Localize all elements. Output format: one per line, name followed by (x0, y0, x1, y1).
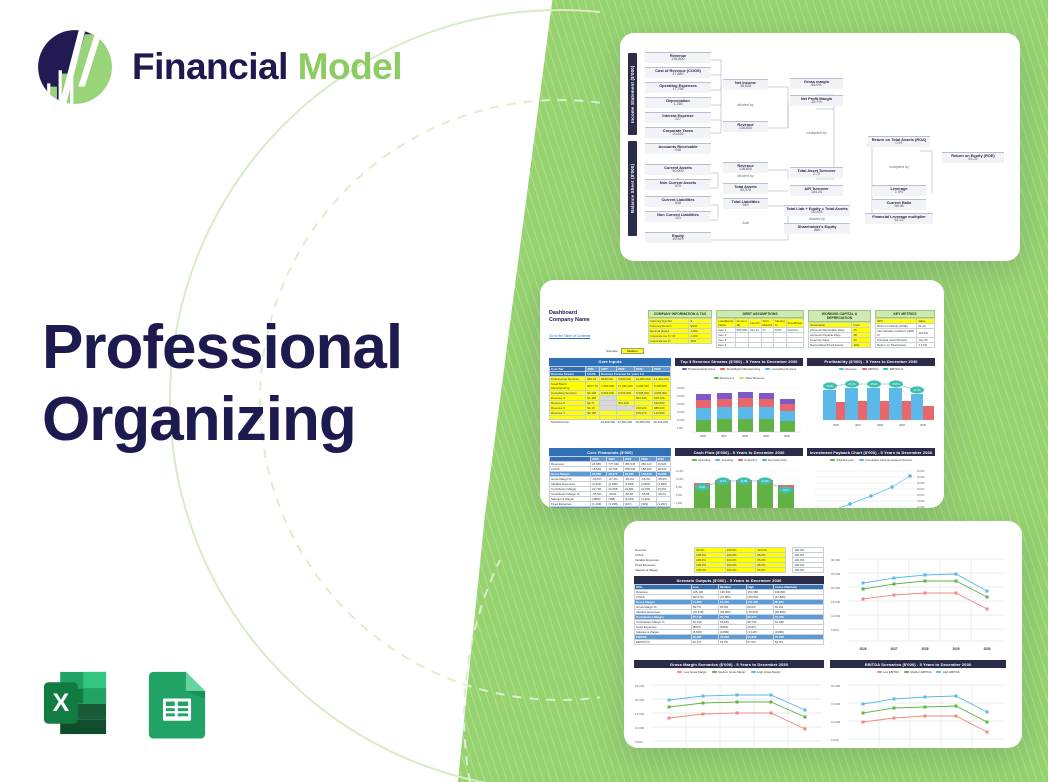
cf-r9-v1: 18,291 (607, 507, 623, 509)
svg-text:10,000: 10,000 (677, 419, 685, 422)
svg-text:2029: 2029 (899, 423, 905, 427)
svg-text:10,000: 10,000 (917, 506, 925, 509)
debt-r3c1[interactable] (735, 343, 748, 348)
legend-low-gm: Low Gross Margin (677, 670, 706, 674)
sa-r4-low[interactable]: 105.0% (695, 568, 726, 573)
ci-row1-v1[interactable]: 77,052,000 (617, 381, 635, 390)
cf-r9-v2: 62,291 (623, 507, 639, 509)
core-financials-table: 2026 2027 2028 2029 2030 Revenues26,5857… (549, 456, 671, 508)
node-current-liabilities: Current Liabilities848 (645, 196, 711, 207)
wc-r3v[interactable]: 10% (852, 343, 871, 348)
node-interest-expense: Interest Expense127 (645, 112, 711, 123)
svg-text:2026: 2026 (833, 423, 839, 427)
node-leverage: Leverage1.9% (872, 185, 926, 196)
debt-h2: Launch (749, 319, 761, 328)
operator-divided-by-2: divided by (723, 174, 768, 178)
km-r3l: Return on Total Assets (876, 343, 917, 348)
table-row: EBITDA %40.1%52.0%57.0%52.0% (635, 640, 824, 645)
debt-r3c4[interactable] (774, 343, 787, 348)
svg-text:-: - (831, 640, 832, 644)
profitability-plot: 46.2% 47.1% 45.2% 45.7% 41.7% 2026202720… (807, 372, 935, 430)
ci-value-4[interactable]: 30% (689, 339, 712, 344)
node-return-on-total-assets: Return on Total Assets (ROA)0.97 (868, 136, 930, 147)
node-net-profit-margin: Net Profit Margin35.7% (790, 95, 843, 106)
core-inputs-title: Core Inputs (549, 358, 671, 366)
brand-word-financial: Financial (132, 46, 298, 87)
sa-r4-high[interactable]: 95.0% (756, 568, 786, 573)
svg-text:2026: 2026 (700, 434, 706, 438)
dashboard-body: Dashboard Company Name Go to the Table o… (540, 280, 944, 508)
cf-bubble-3: 10,309 (761, 481, 769, 483)
node-depreciation: Depreciation1,265 (645, 97, 711, 108)
svg-text:20,000: 20,000 (635, 698, 645, 702)
legend-investing: Investing (715, 458, 733, 462)
operator-divided-by-3: divided by (784, 217, 850, 221)
node-current-assets: Current Assets50,009 (645, 164, 711, 175)
svg-text:5,000: 5,000 (831, 628, 839, 632)
node-operating-expenses: Operating Expenses17,758 (645, 82, 711, 93)
svg-text:15,000: 15,000 (677, 411, 685, 414)
table-row: EBITDA60,22818,29162,29163,79161,7% (550, 507, 671, 509)
bubble-4: 41.7% (914, 389, 922, 392)
svg-text:20,000: 20,000 (677, 403, 685, 406)
node-cogs: Cost of Revenue (COGS)47,880 (645, 67, 711, 78)
legend-low-ebitda: Low EBITDA (877, 670, 900, 674)
debt-h1: Amount ($) (735, 319, 748, 328)
financial-dashboard-card[interactable]: Dashboard Company Name Go to the Table o… (540, 280, 944, 508)
ci-row1-v2[interactable]: 9,298,000 (635, 381, 653, 390)
legend-item-revenue: Revenue (839, 367, 857, 371)
legend-cumulative-cash: Cumulative Cash Generated (Source) (859, 458, 912, 462)
svg-text:6,000: 6,000 (676, 494, 683, 497)
svg-text:8,000: 8,000 (676, 486, 683, 489)
debt-r3c5[interactable] (786, 343, 803, 348)
revenue-streams-plot: 30,00025,00020,000 15,00010,0005,000 (675, 381, 803, 439)
svg-text:25,000: 25,000 (635, 684, 645, 688)
ci-total-3: 28,120,000 (653, 419, 671, 424)
svg-text:2030: 2030 (920, 423, 926, 427)
profitability-combo-chart: Profitability ($'000) - 5 Years to Decem… (807, 358, 935, 445)
payback-chart-title: Investment Payback Chart ($'000) - 5 Yea… (807, 448, 935, 456)
operator-multiplied-by-1: multiplied by (790, 131, 843, 135)
node-non-current-liabilities: Non Current Liabilities101 (645, 211, 711, 222)
bubble-0: 46.2% (827, 385, 835, 388)
svg-text:2029: 2029 (763, 434, 769, 438)
svg-text:15,000: 15,000 (917, 500, 925, 503)
bubble-1: 47.1% (849, 383, 857, 386)
cf-r9-v4: 61,7% (656, 507, 671, 509)
key-metrics-panel-title: KEY METRICS (875, 310, 935, 318)
cash-flow-plot: 12,00010,0008,000 6,0004,0002,000 -(2,00… (675, 463, 803, 509)
ebitda-plot: 20,00015,00010,000 5,000- (830, 675, 1006, 749)
legend-netcash: Net Cash Flow (762, 458, 787, 462)
ci-total-label: Total Revenue (550, 419, 586, 424)
node-total-assets: Total Assets50,578 (723, 183, 768, 194)
cf-r9-v0: 60,228 (591, 507, 607, 509)
core-financials-block: Core Financials ($'000) 2026 2027 2028 2… (549, 448, 671, 508)
legend-high-ebitda: High EBITDA (936, 670, 959, 674)
legend-item-1: Small Batch Manufacturing (720, 367, 760, 371)
ci-total-2: 28,480,000 (635, 419, 653, 424)
svg-text:20,000: 20,000 (831, 684, 841, 688)
google-sheets-icon[interactable] (140, 666, 214, 740)
legend-operating: Operating (692, 458, 711, 462)
debt-assumptions-panel: DEBT ASSUMPTIONS Loan/Equity Name Amount… (716, 310, 804, 348)
financial-model-dupont-flow-card[interactable]: Income Statement ($'000) Balance Sheet (… (620, 33, 1020, 261)
ci-row1-v0[interactable]: 7,352,000 (600, 381, 617, 390)
scenario-left-column: Revenue90.0%100.0%110.0%100.0% COGS105.0… (634, 547, 824, 658)
legend-item-0: Professional Services (682, 367, 715, 371)
ci-total-0: 26,200,000 (600, 419, 617, 424)
working-capital-table: AssumptionInput Accounts Receivable Days… (808, 322, 871, 348)
scenario-summary-plot: 30,00025,00020,000 15,00010,0005,000- (830, 547, 1006, 653)
company-info-table: Currency Symbol$ Currency Denom$'000 Dec… (648, 318, 713, 344)
sa-r4-actual: 100.0% (793, 568, 824, 573)
cash-flow-chart: Cash Flow ($'000) - 5 Years to December … (675, 448, 803, 508)
debt-h4: Interest % (774, 319, 787, 328)
dashboard-header: Dashboard Company Name Go to the Table o… (549, 310, 644, 354)
slide-canvas: Financial Model Professional Organizing … (0, 0, 1048, 782)
company-info-panel-title: COMPANY INFORMATION & TAX (648, 310, 713, 318)
operator-divided-by-1: divided by (723, 103, 768, 107)
debt-panel-title: DEBT ASSUMPTIONS (716, 310, 804, 318)
debt-r3c0[interactable]: Item 4 (717, 343, 735, 348)
debt-r3c2[interactable] (749, 343, 761, 348)
ci-total-1: 27,850,000 (617, 419, 635, 424)
so-r10c4: 52.0% (773, 640, 823, 645)
scenario-outputs-table: KPIs Low Medium High Active (Medium) Rev… (634, 584, 824, 645)
svg-text:12,000: 12,000 (676, 470, 684, 473)
node-non-current-assets: Non Current Assets570 (645, 179, 711, 190)
cf-bubble-0: 8,460 (699, 487, 705, 489)
node-net-income: Net Income48,828 (723, 79, 768, 90)
node-total-liab-equity: Total Liab + Equity = Total Assets50,578 (784, 205, 850, 216)
legend-payback-year: Payback year (830, 458, 853, 462)
ebitda-scenarios-chart: EBITDA Scenarios ($'000) - 5 Years to De… (830, 660, 1006, 748)
core-inputs-table: Cost Tier 2026 2027 2028 2029 2030 Reven… (549, 366, 671, 424)
page-title: Professional Organizing (42, 312, 402, 456)
scenario-outputs-title: Scenario Outputs ($'000) - 5 Years to De… (634, 576, 824, 584)
gross-margin-scenarios-chart: Gross Margin Scenarios ($'000) - 5 Years… (634, 660, 824, 748)
section-label-balance-sheet: Balance Sheet ($'000) (628, 141, 637, 236)
debt-r0c1[interactable]: 500,000 (735, 328, 748, 333)
wc-panel-title: WORKING CAPITAL & DEPRECIATION (808, 310, 871, 322)
ci-row1-unit[interactable]: $127.70 (586, 381, 600, 390)
debt-h0: Loan/Equity Name (717, 319, 735, 328)
svg-text:5,000: 5,000 (677, 427, 684, 430)
supported-formats: X (38, 666, 214, 740)
legend-item-ebitda: EBITDA (862, 367, 879, 371)
ss-x2: 2028 (921, 647, 928, 651)
cf-bubble-2: 10,281 (740, 481, 748, 483)
svg-text:30,000: 30,000 (917, 482, 925, 485)
svg-text:25,000: 25,000 (917, 488, 925, 491)
dashboard-title: Dashboard (549, 310, 577, 316)
operator-add: Add (723, 221, 768, 225)
bubble-3: 45.7% (893, 383, 901, 386)
company-information-panel: COMPANY INFORMATION & TAX Currency Symbo… (648, 310, 713, 344)
svg-text:2028: 2028 (742, 434, 748, 438)
cf-r9-label: EBITDA (550, 507, 591, 509)
ss-x4: 2030 (983, 647, 990, 651)
revenue-streams-chart-title: Top 3 Revenue Streams ($'000) - 5 Years … (675, 358, 803, 366)
debt-assumptions-table: Loan/Equity Name Amount ($) Launch Term,… (716, 318, 804, 348)
legend-item-2: Consulting Services (765, 367, 796, 371)
node-revenue-asset-turnover: Revenue136,800 (723, 162, 768, 173)
ci-row0-v2[interactable]: 10,000,000 (635, 376, 653, 381)
svg-text:5,000: 5,000 (831, 738, 839, 742)
table-row: Salaries & Wages105.0%100.0%95.0%100.0% (634, 568, 824, 573)
core-inputs-block: Core Inputs Cost Tier 2026 2027 2028 202… (549, 358, 671, 445)
svg-text:2027: 2027 (721, 434, 727, 438)
node-total-liabilities: Total Liabilities949 (723, 198, 768, 209)
so-r10c3: 57.0% (746, 640, 773, 645)
svg-text:25,000: 25,000 (831, 572, 841, 576)
svg-text:15,000: 15,000 (831, 702, 841, 706)
brand-wordmark: Financial Model (132, 46, 402, 88)
svg-text:2027: 2027 (855, 423, 861, 427)
ss-x1: 2027 (890, 647, 897, 651)
gross-margin-plot: 25,00020,00015,000 10,0005,000- (634, 675, 824, 749)
node-shareholders-equity: Shareholder's Equity869 (784, 223, 850, 234)
key-metrics-table: NPVValue Return on Equity (ROE)61.22 Int… (875, 318, 935, 348)
node-ar-turnover: A/R Turnover144.24 (790, 185, 843, 196)
scenario-select[interactable]: Medium (621, 348, 644, 354)
scenario-analysis-card[interactable]: Revenue90.0%100.0%110.0%100.0% COGS105.0… (624, 521, 1022, 748)
svg-text:20,000: 20,000 (831, 586, 841, 590)
core-financials-title: Core Financials ($'000) (549, 448, 671, 456)
ebitda-chart-title: EBITDA Scenarios ($'000) - 5 Years to De… (830, 660, 1006, 668)
ss-x0: 2026 (859, 647, 866, 651)
scenario-label: Scenario (606, 349, 618, 353)
svg-text:5,000: 5,000 (635, 740, 643, 744)
node-gross-margin: Gross margin65.0% (790, 78, 843, 89)
revenue-streams-legend: Professional Services Small Batch Manufa… (675, 366, 803, 382)
revenue-streams-stacked-bar: Top 3 Revenue Streams ($'000) - 5 Years … (675, 358, 803, 445)
svg-text:35,000: 35,000 (917, 476, 925, 479)
so-r10c2: 52.0% (718, 640, 746, 645)
node-return-on-equity: Return on Equity (ROE)61.22 (942, 152, 1004, 163)
legend-med-gm: Medium Gross Margin (712, 670, 746, 674)
km-r1l: Internal Rate of Return (IRR) % (876, 329, 917, 338)
node-equity: Equity49,629 (645, 232, 711, 243)
debt-h3: Term, Months (761, 319, 773, 328)
node-financial-leverage-multiplier: Financial Leverage multiplier63.22 (865, 213, 933, 224)
km-r1v: 144.6% (917, 329, 935, 338)
section-label-income-statement: Income Statement ($'000) (628, 53, 637, 135)
cash-flow-chart-title: Cash Flow ($'000) - 5 Years to December … (675, 448, 803, 456)
debt-r3c3[interactable] (761, 343, 773, 348)
svg-text:2030: 2030 (784, 434, 790, 438)
scenario-body: Revenue90.0%100.0%110.0%100.0% COGS105.0… (624, 521, 1022, 748)
ci-row0-v3[interactable]: 14,000,000 (653, 376, 671, 381)
payback-plot: 40,00035,00030,000 25,00020,00015,000 10… (807, 463, 935, 509)
svg-text:10,000: 10,000 (676, 478, 684, 481)
dupont-flow-diagram: Income Statement ($'000) Balance Sheet (… (620, 33, 1020, 261)
brand-word-model: Model (298, 46, 402, 87)
svg-text:2028: 2028 (877, 423, 883, 427)
legend-item-4: Other Revenue (739, 376, 764, 380)
operator-multiplied-by-2: multiplied by (868, 165, 930, 169)
ci-row1-v3[interactable]: 5,238,000 (653, 381, 671, 390)
ci-label-4: Corporate tax % (648, 339, 689, 344)
svg-text:X: X (53, 689, 70, 717)
legend-financing: Financing (738, 458, 757, 462)
profitability-chart-title: Profitability ($'000) - 5 Years to Decem… (807, 358, 935, 366)
node-corporate-taxes: Corporate Taxes20,626 (645, 127, 711, 138)
svg-text:20,000: 20,000 (917, 494, 925, 497)
svg-text:30,000: 30,000 (677, 387, 685, 390)
brand-logo[interactable]: Financial Model (34, 26, 402, 108)
node-current-ratio: Current Ratio58.98 (872, 199, 926, 210)
scenario-assumptions-table: Revenue90.0%100.0%110.0%100.0% COGS105.0… (634, 547, 824, 573)
cf-bubble-1: 10,711 (720, 481, 728, 483)
so-r10c1: 40.1% (691, 640, 718, 645)
node-total-asset-turnover: Total Asset Turnover2.70 (790, 167, 843, 178)
gross-margin-chart-title: Gross Margin Scenarios ($'000) - 5 Years… (634, 660, 824, 668)
working-capital-panel: WORKING CAPITAL & DEPRECIATION Assumptio… (808, 310, 871, 348)
cf-r9-v3: 63,791 (640, 507, 656, 509)
legend-item-3: Revenue 4 (714, 376, 734, 380)
so-r10c0: EBITDA % (635, 640, 692, 645)
dashboard-company-name: Company Name (549, 317, 590, 323)
svg-text:4,000: 4,000 (676, 502, 683, 505)
svg-text:15,000: 15,000 (831, 600, 841, 604)
legend-med-ebitda: Medium EBITDA (904, 670, 931, 674)
legend-item-ebitda-pct: EBITDA % (883, 367, 903, 371)
ss-x3: 2029 (952, 647, 959, 651)
financial-model-circle-chart-logo-icon (34, 26, 116, 108)
scenario-summary-line-chart: 30,00025,00020,000 15,00010,0005,000- (830, 547, 1006, 658)
svg-text:10,000: 10,000 (831, 614, 841, 618)
cf-bubble-4: 8,117 (783, 490, 789, 492)
svg-text:40,000: 40,000 (917, 470, 925, 473)
sa-r4-med[interactable]: 100.0% (725, 568, 756, 573)
key-metrics-panel: KEY METRICS NPVValue Return on Equity (R… (875, 310, 935, 348)
legend-high-gm: High Gross Margin (751, 670, 781, 674)
svg-text:10,000: 10,000 (831, 720, 841, 724)
table-of-contents-link[interactable]: Go to the Table of Contents (549, 334, 590, 338)
km-r3v: 1.2742 (917, 343, 935, 348)
svg-text:10,000: 10,000 (635, 726, 645, 730)
node-revenue-denominator: Revenue136,800 (723, 121, 768, 132)
svg-text:25,000: 25,000 (677, 395, 685, 398)
investment-payback-chart: Investment Payback Chart ($'000) - 5 Yea… (807, 448, 935, 508)
debt-h5: Fixed/Float (786, 319, 803, 328)
microsoft-excel-icon[interactable]: X (38, 666, 112, 740)
ci-row1-label: Small Batch Manufacturing (550, 381, 586, 390)
bubble-2: 45.2% (871, 383, 879, 386)
svg-text:30,000: 30,000 (831, 558, 841, 562)
node-revenue: Revenue136,800 (645, 52, 711, 63)
sa-r4-label: Salaries & Wages (634, 568, 695, 573)
wc-r3l: Depreciation/Fixed Assets (808, 343, 851, 348)
svg-text:15,000: 15,000 (635, 712, 645, 716)
node-accounts-receivable: Accounts Receivable948 (645, 143, 711, 154)
